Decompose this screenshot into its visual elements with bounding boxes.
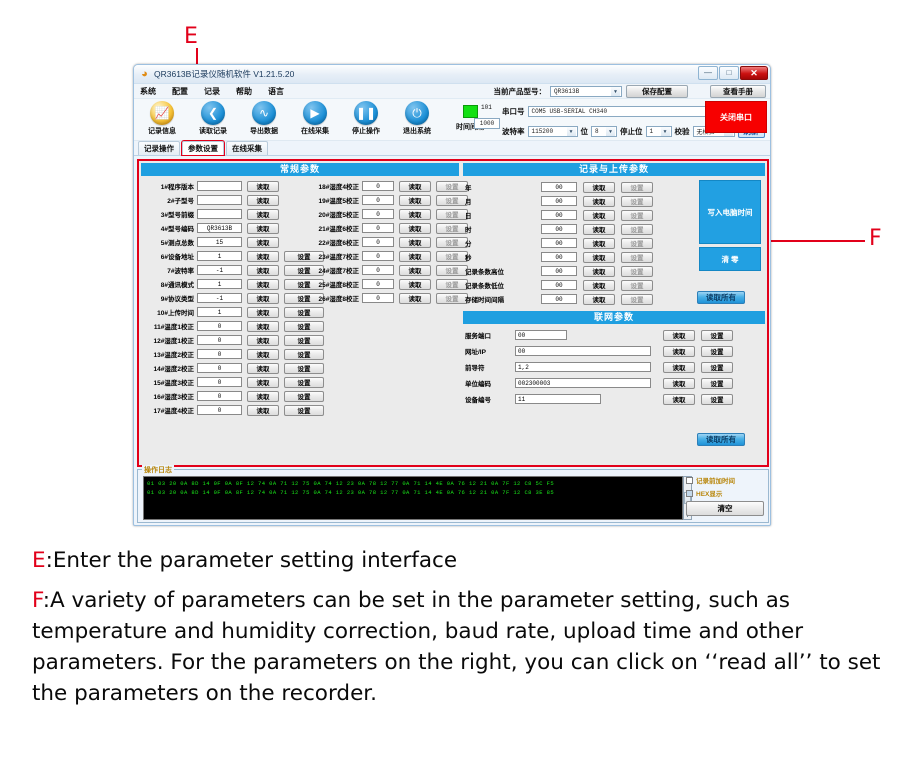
param-value-input[interactable]: 0 xyxy=(197,363,242,373)
record-upload-row: 分00读取设置 xyxy=(465,236,653,250)
param-row: 13#温度2校正0读取设置 xyxy=(142,347,324,361)
network-param-input[interactable]: 00 xyxy=(515,346,651,356)
param-label: 11#温度1校正 xyxy=(142,321,194,331)
param-value-input[interactable]: 0 xyxy=(362,293,394,303)
caption-key-e: E xyxy=(32,548,46,573)
param-row: 11#温度1校正0读取设置 xyxy=(142,319,324,333)
toolbar-button-export-data[interactable]: ∿ 导出数据 xyxy=(238,101,290,136)
menu-bar: 系统 配置 记录 帮助 语言 当前产品型号： QR3613B ▼ 保存配置 查看… xyxy=(134,84,770,99)
close-button[interactable]: ✕ xyxy=(740,66,768,80)
general-params-column-2: 18#湿度4校正0读取设置19#温度5校正0读取设置20#湿度5校正0读取设置2… xyxy=(301,179,468,305)
hex-checkbox[interactable] xyxy=(686,490,693,497)
network-param-row: 服务端口00读取设置 xyxy=(465,327,733,343)
network-param-input[interactable]: 002300003 xyxy=(515,378,651,388)
record-upload-input[interactable]: 00 xyxy=(541,294,577,304)
param-row: 21#温度6校正0读取设置 xyxy=(301,221,468,235)
param-value-input[interactable]: 1 xyxy=(197,251,242,261)
stopbits-value: 1 xyxy=(650,128,654,135)
record-upload-label: 月 xyxy=(465,196,525,206)
toolbar-label-read-records: 读取记录 xyxy=(187,126,239,136)
param-read-button[interactable]: 读取 xyxy=(247,223,279,234)
minimize-button[interactable]: — xyxy=(698,66,718,80)
param-read-button[interactable]: 读取 xyxy=(247,195,279,206)
annotation-line-f xyxy=(767,240,865,242)
toolbar-label-export-data: 导出数据 xyxy=(238,126,290,136)
toolbar: 📈 记录信息 ❮ 读取记录 ∿ 导出数据 ▶ 在线采集 ❚❚ 停止操作 ⏻ 退出… xyxy=(134,99,770,141)
record-upload-set-button[interactable]: 设置 xyxy=(621,280,653,291)
tab-parameter-settings[interactable]: 参数设置 xyxy=(182,141,224,155)
general-params-column-1: 1#程序版本读取设置2#子型号读取设置3#型号前缀读取设置4#型号编码QR361… xyxy=(142,179,324,417)
network-param-set-button[interactable]: 设置 xyxy=(701,330,733,341)
chevron-down-icon[interactable]: ▼ xyxy=(567,127,576,136)
param-read-button[interactable]: 读取 xyxy=(247,279,279,290)
record-upload-set-button[interactable]: 设置 xyxy=(621,294,653,305)
network-param-read-button[interactable]: 读取 xyxy=(663,362,695,373)
tab-strip: 记录操作 参数设置 在线采集 xyxy=(134,141,770,156)
network-param-set-button[interactable]: 设置 xyxy=(701,394,733,405)
param-value-input[interactable]: -1 xyxy=(197,293,242,303)
right-parameters-pane: 记录与上传参数 年00读取设置月00读取设置日00读取设置时00读取设置分00读… xyxy=(461,161,767,465)
param-row: 3#型号前缀读取设置 xyxy=(142,207,324,221)
read-all-button-record[interactable]: 读取所有 xyxy=(697,291,745,304)
general-params-header: 常规参数 xyxy=(141,163,459,176)
param-row: 24#湿度7校正0读取设置 xyxy=(301,263,468,277)
network-param-label: 网址/IP xyxy=(465,346,509,356)
waveform-icon: ∿ xyxy=(252,101,276,125)
param-value-input[interactable]: -1 xyxy=(197,265,242,275)
param-label: 18#湿度4校正 xyxy=(301,181,359,191)
record-upload-set-button[interactable]: 设置 xyxy=(621,238,653,249)
param-row: 6#设备地址1读取设置 xyxy=(142,249,324,263)
app-logo-icon: ◕ xyxy=(139,69,150,80)
param-row: 26#湿度8校正0读取设置 xyxy=(301,291,468,305)
toolbar-label-online-collect: 在线采集 xyxy=(289,126,341,136)
param-read-button[interactable]: 读取 xyxy=(247,209,279,220)
param-label: 3#型号前缀 xyxy=(142,209,194,219)
network-params-rows: 服务端口00读取设置网址/IP00读取设置前导符1,2读取设置单位编码00230… xyxy=(465,327,733,407)
record-upload-row: 存储时间间隔00读取设置 xyxy=(465,292,653,306)
param-value-input[interactable]: QR3613B xyxy=(197,223,242,233)
menu-item-record[interactable]: 记录 xyxy=(204,86,220,97)
pause-icon: ❚❚ xyxy=(354,101,378,125)
param-set-button[interactable]: 设置 xyxy=(284,377,324,388)
param-set-button[interactable]: 设置 xyxy=(284,363,324,374)
power-icon: ⏻ xyxy=(405,101,429,125)
record-upload-read-button[interactable]: 读取 xyxy=(583,210,615,221)
log-output[interactable]: 01 03 20 0A 8D 14 0F 0A 8F 12 74 0A 71 1… xyxy=(143,476,683,520)
operation-log-legend: 操作日志 xyxy=(142,465,174,475)
databits-value: 8 xyxy=(595,128,599,135)
param-label: 7#波特率 xyxy=(142,265,194,275)
param-row: 25#温度8校正0读取设置 xyxy=(301,277,468,291)
param-row: 10#上传时间1读取设置 xyxy=(142,305,324,319)
param-read-button[interactable]: 读取 xyxy=(399,209,431,220)
param-read-button[interactable]: 读取 xyxy=(247,181,279,192)
window-controls: — □ ✕ xyxy=(698,66,768,80)
param-row: 5#测点总数15读取设置 xyxy=(142,235,324,249)
record-upload-input[interactable]: 00 xyxy=(541,238,577,248)
network-param-label: 服务端口 xyxy=(465,330,509,340)
databits-select[interactable]: 8 ▼ xyxy=(591,126,617,137)
application-window: ◕ QR3613B记录仪随机软件 V1.21.5.20 — □ ✕ 系统 配置 … xyxy=(133,64,771,526)
record-upload-input[interactable]: 00 xyxy=(541,182,577,192)
caption-key-f: F xyxy=(32,588,43,613)
annotation-letter-f: F xyxy=(869,228,882,250)
menu-item-help[interactable]: 帮助 xyxy=(236,86,252,97)
network-param-read-button[interactable]: 读取 xyxy=(663,346,695,357)
param-label: 17#温度4校正 xyxy=(142,405,194,415)
caption-block: E:Enter the parameter setting interface … xyxy=(32,545,882,718)
param-set-button[interactable]: 设置 xyxy=(284,335,324,346)
log-options: 记录前加时间 HEX显示 清空 xyxy=(686,475,764,516)
toolbar-button-online-collect[interactable]: ▶ 在线采集 xyxy=(289,101,341,136)
port-value: COM5 USB-SERIAL CH340 xyxy=(532,108,608,115)
network-param-input[interactable]: 00 xyxy=(515,330,567,340)
record-upload-input[interactable]: 00 xyxy=(541,266,577,276)
param-label: 23#温度7校正 xyxy=(301,251,359,261)
param-value-input[interactable] xyxy=(197,195,242,205)
network-param-set-button[interactable]: 设置 xyxy=(701,346,733,357)
param-read-button[interactable]: 读取 xyxy=(247,405,279,416)
general-parameters-pane: 常规参数 1#程序版本读取设置2#子型号读取设置3#型号前缀读取设置4#型号编码… xyxy=(139,161,461,465)
param-value-input[interactable]: 0 xyxy=(197,377,242,387)
param-value-input[interactable]: 15 xyxy=(197,237,242,247)
param-read-button[interactable]: 读取 xyxy=(399,195,431,206)
chevron-down-icon[interactable]: ▼ xyxy=(611,87,620,96)
interval-input[interactable]: 1000 xyxy=(474,118,500,129)
param-label: 1#程序版本 xyxy=(142,181,194,191)
network-param-set-button[interactable]: 设置 xyxy=(701,362,733,373)
param-label: 9#协议类型 xyxy=(142,293,194,303)
record-upload-row: 记录条数高位00读取设置 xyxy=(465,264,653,278)
record-upload-input[interactable]: 00 xyxy=(541,280,577,290)
param-set-button[interactable]: 设置 xyxy=(284,349,324,360)
clear-log-button[interactable]: 清空 xyxy=(686,501,764,516)
param-row: 12#湿度1校正0读取设置 xyxy=(142,333,324,347)
record-upload-set-button[interactable]: 设置 xyxy=(621,182,653,193)
param-label: 2#子型号 xyxy=(142,195,194,205)
product-model-label: 当前产品型号： xyxy=(494,86,547,97)
record-upload-read-button[interactable]: 读取 xyxy=(583,224,615,235)
toolbar-button-record-info[interactable]: 📈 记录信息 xyxy=(136,101,188,136)
param-value-input[interactable]: 0 xyxy=(197,391,242,401)
product-model-group: 当前产品型号： QR3613B ▼ 保存配置 查看手册 xyxy=(494,84,767,99)
clear-zero-button[interactable]: 清 零 xyxy=(699,247,761,271)
param-value-input[interactable]: 0 xyxy=(362,223,394,233)
param-label: 10#上传时间 xyxy=(142,307,194,317)
interval-count: 101 xyxy=(481,104,492,111)
network-param-label: 前导符 xyxy=(465,362,509,372)
param-value-input[interactable]: 0 xyxy=(362,195,394,205)
param-row: 1#程序版本读取设置 xyxy=(142,179,324,193)
record-upload-label: 年 xyxy=(465,182,525,192)
param-read-button[interactable]: 读取 xyxy=(399,237,431,248)
toolbar-button-exit[interactable]: ⏻ 退出系统 xyxy=(391,101,443,136)
network-param-read-button[interactable]: 读取 xyxy=(663,330,695,341)
param-label: 25#温度8校正 xyxy=(301,279,359,289)
param-value-input[interactable]: 0 xyxy=(362,251,394,261)
caption-text-e: :Enter the parameter setting interface xyxy=(46,548,458,573)
param-value-input[interactable]: 1 xyxy=(197,279,242,289)
record-upload-set-button[interactable]: 设置 xyxy=(621,252,653,263)
record-upload-label: 分 xyxy=(465,238,525,248)
param-label: 14#湿度2校正 xyxy=(142,363,194,373)
param-read-button[interactable]: 读取 xyxy=(247,237,279,248)
network-param-read-button[interactable]: 读取 xyxy=(663,394,695,405)
checkbox-row-timestamp[interactable]: 记录前加时间 xyxy=(686,475,764,485)
param-label: 12#湿度1校正 xyxy=(142,335,194,345)
baud-select[interactable]: 115200 ▼ xyxy=(528,126,578,137)
param-read-button[interactable]: 读取 xyxy=(399,251,431,262)
param-read-button[interactable]: 读取 xyxy=(399,223,431,234)
param-row: 16#湿度3校正0读取设置 xyxy=(142,389,324,403)
port-select[interactable]: COM5 USB-SERIAL CH340 ▼ xyxy=(528,106,716,117)
close-port-button[interactable]: 关闭串口 xyxy=(705,101,767,133)
record-upload-read-button[interactable]: 读取 xyxy=(583,238,615,249)
caption-text-f: :A variety of parameters can be set in t… xyxy=(32,588,880,706)
param-label: 15#温度3校正 xyxy=(142,377,194,387)
param-value-input[interactable]: 0 xyxy=(362,181,394,191)
timestamp-checkbox[interactable] xyxy=(686,477,693,484)
menu-item-config[interactable]: 配置 xyxy=(172,86,188,97)
databits-label: 位 xyxy=(581,126,589,137)
tab-record-operation[interactable]: 记录操作 xyxy=(138,141,180,155)
network-params-header: 联网参数 xyxy=(463,311,765,324)
param-read-button[interactable]: 读取 xyxy=(247,349,279,360)
product-model-select[interactable]: QR3613B ▼ xyxy=(550,86,622,97)
checkbox-row-hex[interactable]: HEX显示 xyxy=(686,488,764,498)
param-value-input[interactable]: 0 xyxy=(197,349,242,359)
record-upload-set-button[interactable]: 设置 xyxy=(621,266,653,277)
record-upload-row: 年00读取设置 xyxy=(465,180,653,194)
param-row: 20#湿度5校正0读取设置 xyxy=(301,207,468,221)
network-param-input[interactable]: 11 xyxy=(515,394,601,404)
param-value-input[interactable]: 0 xyxy=(362,265,394,275)
param-row: 8#通讯模式1读取设置 xyxy=(142,277,324,291)
record-upload-read-button[interactable]: 读取 xyxy=(583,266,615,277)
record-upload-read-button[interactable]: 读取 xyxy=(583,196,615,207)
timestamp-checkbox-label: 记录前加时间 xyxy=(696,475,735,485)
param-value-input[interactable]: 0 xyxy=(362,237,394,247)
annotation-letter-e: E xyxy=(184,26,198,48)
record-upload-label: 记录条数低位 xyxy=(465,280,525,290)
param-read-button[interactable]: 读取 xyxy=(399,265,431,276)
network-param-row: 单位编码002300003读取设置 xyxy=(465,375,733,391)
param-read-button[interactable]: 读取 xyxy=(247,363,279,374)
param-set-button[interactable]: 设置 xyxy=(284,391,324,402)
param-set-button[interactable]: 设置 xyxy=(284,321,324,332)
network-param-row: 前导符1,2读取设置 xyxy=(465,359,733,375)
record-upload-input[interactable]: 00 xyxy=(541,196,577,206)
record-upload-set-button[interactable]: 设置 xyxy=(621,196,653,207)
param-row: 7#波特率-1读取设置 xyxy=(142,263,324,277)
record-upload-label: 存储时间间隔 xyxy=(465,294,525,304)
param-row: 15#温度3校正0读取设置 xyxy=(142,375,324,389)
param-value-input[interactable]: 0 xyxy=(197,335,242,345)
param-read-button[interactable]: 读取 xyxy=(247,293,279,304)
toolbar-button-read-records[interactable]: ❮ 读取记录 xyxy=(187,101,239,136)
record-upload-row: 月00读取设置 xyxy=(465,194,653,208)
network-param-input[interactable]: 1,2 xyxy=(515,362,651,372)
status-indicator-icon xyxy=(463,105,478,118)
record-upload-read-button[interactable]: 读取 xyxy=(583,294,615,305)
save-config-button[interactable]: 保存配置 xyxy=(626,85,688,98)
toolbar-label-stop: 停止操作 xyxy=(340,126,392,136)
param-read-button[interactable]: 读取 xyxy=(247,251,279,262)
param-label: 20#湿度5校正 xyxy=(301,209,359,219)
record-upload-label: 时 xyxy=(465,224,525,234)
product-model-value: QR3613B xyxy=(554,88,579,95)
param-read-button[interactable]: 读取 xyxy=(247,335,279,346)
record-upload-row: 秒00读取设置 xyxy=(465,250,653,264)
record-upload-input[interactable]: 00 xyxy=(541,210,577,220)
read-all-button-network[interactable]: 读取所有 xyxy=(697,433,745,446)
param-label: 19#温度5校正 xyxy=(301,195,359,205)
param-row: 2#子型号读取设置 xyxy=(142,193,324,207)
record-upload-set-button[interactable]: 设置 xyxy=(621,224,653,235)
param-value-input[interactable]: 0 xyxy=(197,321,242,331)
network-param-label: 单位编码 xyxy=(465,378,509,388)
param-label: 8#通讯模式 xyxy=(142,279,194,289)
record-upload-rows: 年00读取设置月00读取设置日00读取设置时00读取设置分00读取设置秒00读取… xyxy=(465,180,653,306)
network-param-read-button[interactable]: 读取 xyxy=(663,378,695,389)
tab-online-collect[interactable]: 在线采集 xyxy=(226,141,268,155)
log-line: 01 03 20 0A 8D 14 0F 0A 8F 12 74 0A 71 1… xyxy=(147,479,679,488)
param-value-input[interactable] xyxy=(197,209,242,219)
network-param-set-button[interactable]: 设置 xyxy=(701,378,733,389)
param-read-button[interactable]: 读取 xyxy=(247,307,279,318)
param-read-button[interactable]: 读取 xyxy=(399,279,431,290)
toolbar-button-stop[interactable]: ❚❚ 停止操作 xyxy=(340,101,392,136)
maximize-button[interactable]: □ xyxy=(719,66,739,80)
param-value-input[interactable]: 0 xyxy=(362,209,394,219)
param-value-input[interactable]: 1 xyxy=(197,307,242,317)
operation-log-area: 操作日志 01 03 20 0A 8D 14 0F 0A 8F 12 74 0A… xyxy=(137,469,769,523)
param-set-button[interactable]: 设置 xyxy=(284,307,324,318)
record-upload-input[interactable]: 00 xyxy=(541,224,577,234)
log-line: 01 03 20 0A 8D 14 0F 0A 8F 12 74 0A 71 1… xyxy=(147,488,679,497)
param-row: 4#型号编码QR3613B读取设置 xyxy=(142,221,324,235)
param-label: 26#湿度8校正 xyxy=(301,293,359,303)
parity-label: 校验 xyxy=(675,126,690,137)
share-icon: ❮ xyxy=(201,101,225,125)
record-upload-row: 记录条数低位00读取设置 xyxy=(465,278,653,292)
record-upload-read-button[interactable]: 读取 xyxy=(583,252,615,263)
param-row: 22#湿度6校正0读取设置 xyxy=(301,235,468,249)
record-upload-set-button[interactable]: 设置 xyxy=(621,210,653,221)
view-manual-button[interactable]: 查看手册 xyxy=(710,85,766,98)
param-row: 19#温度5校正0读取设置 xyxy=(301,193,468,207)
play-icon: ▶ xyxy=(303,101,327,125)
param-row: 17#温度4校正0读取设置 xyxy=(142,403,324,417)
chevron-down-icon[interactable]: ▼ xyxy=(661,127,670,136)
hex-checkbox-label: HEX显示 xyxy=(696,488,722,498)
param-label: 21#温度6校正 xyxy=(301,223,359,233)
window-titlebar[interactable]: ◕ QR3613B记录仪随机软件 V1.21.5.20 — □ ✕ xyxy=(134,65,770,84)
chart-logo-icon: 📈 xyxy=(150,101,174,125)
write-pc-time-button[interactable]: 写入电脑时间 xyxy=(699,180,761,244)
param-label: 4#型号编码 xyxy=(142,223,194,233)
record-upload-read-button[interactable]: 读取 xyxy=(583,280,615,291)
record-upload-row: 日00读取设置 xyxy=(465,208,653,222)
param-row: 23#温度7校正0读取设置 xyxy=(301,249,468,263)
param-value-input[interactable]: 0 xyxy=(197,405,242,415)
param-value-input[interactable] xyxy=(197,181,242,191)
param-row: 14#湿度2校正0读取设置 xyxy=(142,361,324,375)
parameter-settings-panel: 常规参数 1#程序版本读取设置2#子型号读取设置3#型号前缀读取设置4#型号编码… xyxy=(137,159,769,467)
param-set-button[interactable]: 设置 xyxy=(284,405,324,416)
param-row: 18#湿度4校正0读取设置 xyxy=(301,179,468,193)
param-read-button[interactable]: 读取 xyxy=(247,321,279,332)
toolbar-label-exit: 退出系统 xyxy=(391,126,443,136)
menu-item-system[interactable]: 系统 xyxy=(140,86,156,97)
port-label: 串口号 xyxy=(502,106,525,117)
param-label: 5#测点总数 xyxy=(142,237,194,247)
param-label: 22#湿度6校正 xyxy=(301,237,359,247)
param-label: 13#温度2校正 xyxy=(142,349,194,359)
param-label: 16#湿度3校正 xyxy=(142,391,194,401)
param-label: 6#设备地址 xyxy=(142,251,194,261)
param-read-button[interactable]: 读取 xyxy=(247,391,279,402)
record-upload-header: 记录与上传参数 xyxy=(463,163,765,176)
toolbar-label-record-info: 记录信息 xyxy=(136,126,188,136)
param-read-button[interactable]: 读取 xyxy=(399,293,431,304)
network-param-row: 设备编号11读取设置 xyxy=(465,391,733,407)
param-label: 24#湿度7校正 xyxy=(301,265,359,275)
stopbits-select[interactable]: 1 ▼ xyxy=(646,126,672,137)
param-read-button[interactable]: 读取 xyxy=(399,181,431,192)
caption-paragraph-e: E:Enter the parameter setting interface xyxy=(32,545,882,576)
menu-item-language[interactable]: 语言 xyxy=(268,86,284,97)
record-upload-row: 时00读取设置 xyxy=(465,222,653,236)
param-read-button[interactable]: 读取 xyxy=(247,377,279,388)
network-param-label: 设备编号 xyxy=(465,394,509,404)
param-row: 9#协议类型-1读取设置 xyxy=(142,291,324,305)
record-upload-read-button[interactable]: 读取 xyxy=(583,182,615,193)
param-value-input[interactable]: 0 xyxy=(362,279,394,289)
record-upload-label: 秒 xyxy=(465,252,525,262)
caption-paragraph-f: F:A variety of parameters can be set in … xyxy=(32,585,882,709)
chevron-down-icon[interactable]: ▼ xyxy=(606,127,615,136)
network-param-row: 网址/IP00读取设置 xyxy=(465,343,733,359)
record-upload-input[interactable]: 00 xyxy=(541,252,577,262)
param-read-button[interactable]: 读取 xyxy=(247,265,279,276)
baud-value: 115200 xyxy=(532,128,554,135)
record-upload-label: 记录条数高位 xyxy=(465,266,525,276)
stopbits-label: 停止位 xyxy=(620,126,643,137)
window-title: QR3613B记录仪随机软件 V1.21.5.20 xyxy=(154,68,294,80)
baud-label: 波特率 xyxy=(502,126,525,137)
record-upload-label: 日 xyxy=(465,210,525,220)
